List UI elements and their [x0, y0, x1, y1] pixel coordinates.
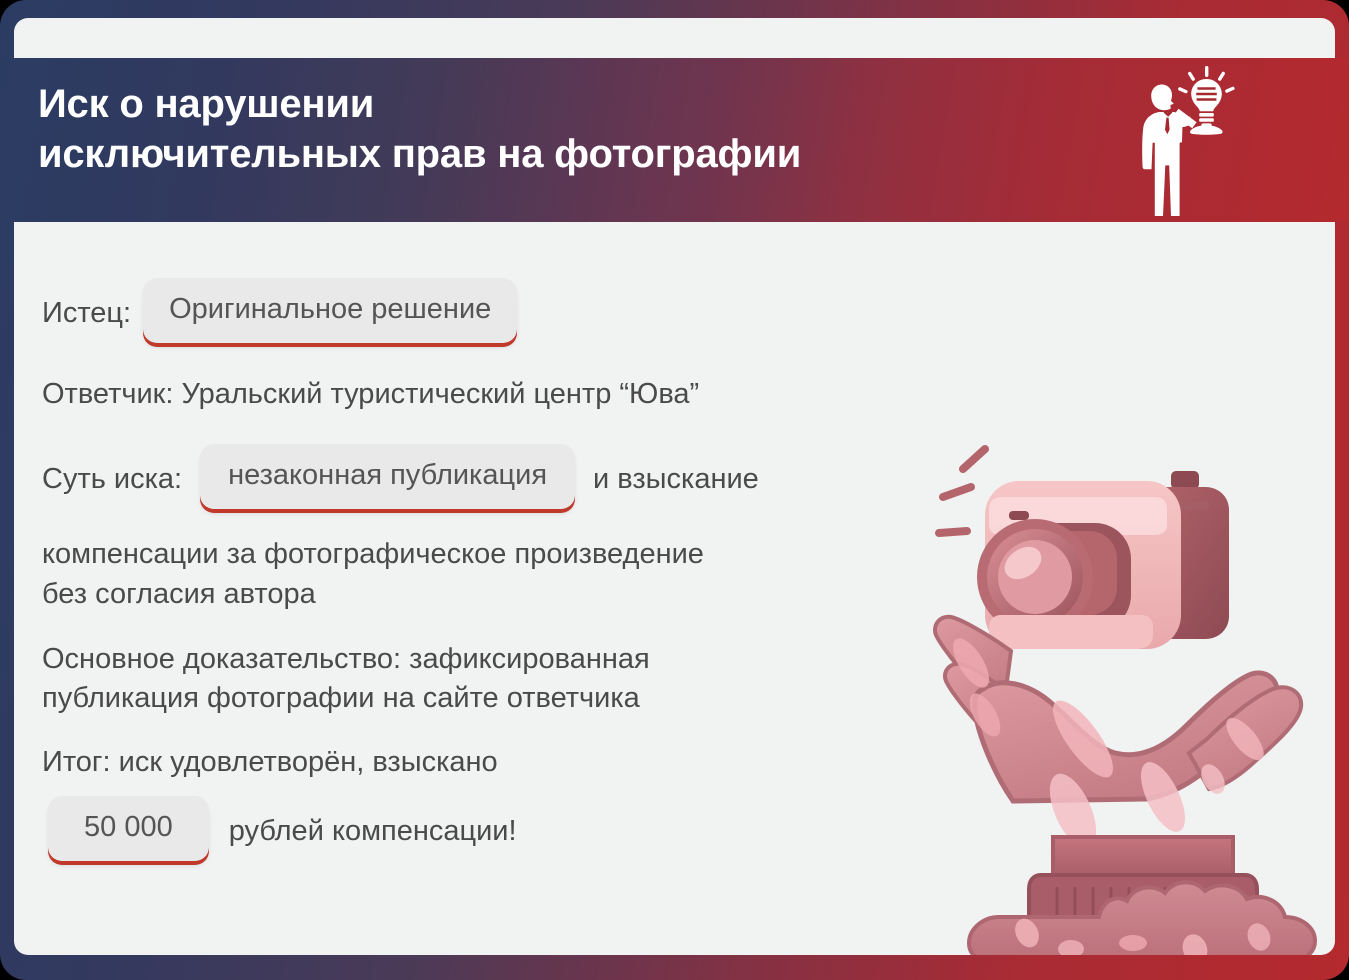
- row-result: Итог: иск удовлетворён, взыскано: [42, 743, 1042, 782]
- claim-label: Суть иска:: [42, 460, 182, 499]
- row-claim-subject: Суть иска: незаконная публикация и взыск…: [42, 444, 1042, 515]
- amount-badge[interactable]: 50 000: [48, 796, 209, 861]
- row-plaintiff: Истец: Оригинальное решение: [42, 278, 1042, 349]
- card-frame: Иск о нарушении исключительных прав на ф…: [0, 0, 1349, 980]
- card-header: Иск о нарушении исключительных прав на ф…: [0, 58, 1349, 222]
- card-top-strip: [14, 18, 1335, 58]
- wrist-sleeve: [1029, 837, 1257, 955]
- row-defendant: Ответчик: Уральский туристический центр …: [42, 375, 1042, 414]
- claim-continuation-text: компенсации за фотографическое произведе…: [42, 535, 704, 614]
- businessman-with-lightbulb-icon: [1121, 64, 1241, 216]
- claim-tail-text: и взыскание: [593, 460, 759, 499]
- amount-tail-text: рублей компенсации!: [229, 812, 517, 851]
- page-title: Иск о нарушении исключительных прав на ф…: [38, 80, 938, 179]
- claim-badge[interactable]: незаконная публикация: [200, 444, 575, 509]
- row-claim-continuation: компенсации за фотографическое произведе…: [42, 535, 1042, 614]
- defendant-text: Ответчик: Уральский туристический центр …: [42, 375, 699, 414]
- plaintiff-label: Истец:: [42, 294, 131, 333]
- result-text: Итог: иск удовлетворён, взыскано: [42, 743, 498, 782]
- cloud-base: [969, 882, 1315, 955]
- plaintiff-badge[interactable]: Оригинальное решение: [143, 278, 517, 343]
- row-amount: 50 000 рублей компенсации!: [42, 796, 1042, 867]
- evidence-text: Основное доказательство: зафиксированная…: [42, 640, 650, 719]
- detail-rows: Истец: Оригинальное решение Ответчик: Ур…: [42, 278, 1042, 867]
- card-body: Истец: Оригинальное решение Ответчик: Ур…: [14, 222, 1335, 955]
- row-evidence: Основное доказательство: зафиксированная…: [42, 640, 1042, 719]
